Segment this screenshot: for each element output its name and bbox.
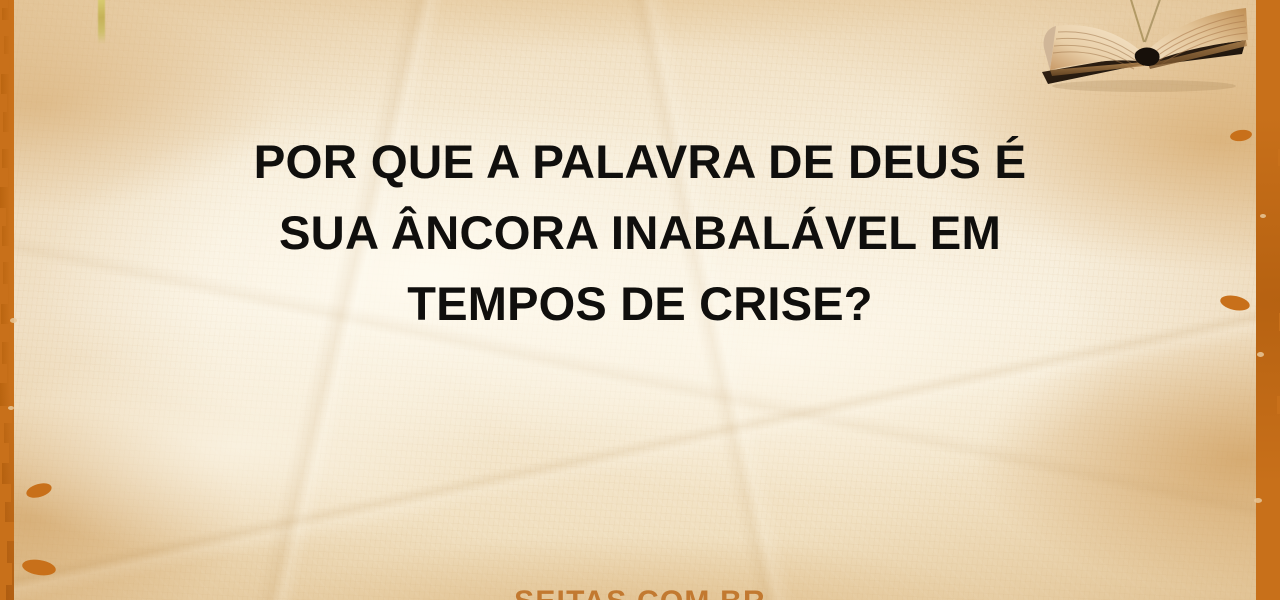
- paper-fleck: [1257, 352, 1264, 357]
- poster-canvas: POR QUE A PALAVRA DE DEUS É SUA ÂNCORA I…: [0, 0, 1280, 600]
- page-title: POR QUE A PALAVRA DE DEUS É SUA ÂNCORA I…: [0, 126, 1280, 339]
- headline-line-2: SUA ÂNCORA INABALÁVEL EM: [0, 197, 1280, 268]
- site-watermark: SEITAS.COM.BR: [0, 587, 1280, 600]
- paper-fleck: [1254, 498, 1262, 503]
- headline-line-3: TEMPOS DE CRISE?: [0, 268, 1280, 339]
- headline-line-1: POR QUE A PALAVRA DE DEUS É: [0, 126, 1280, 197]
- paper-fleck: [8, 406, 14, 410]
- olive-stripe-mark: [98, 0, 105, 44]
